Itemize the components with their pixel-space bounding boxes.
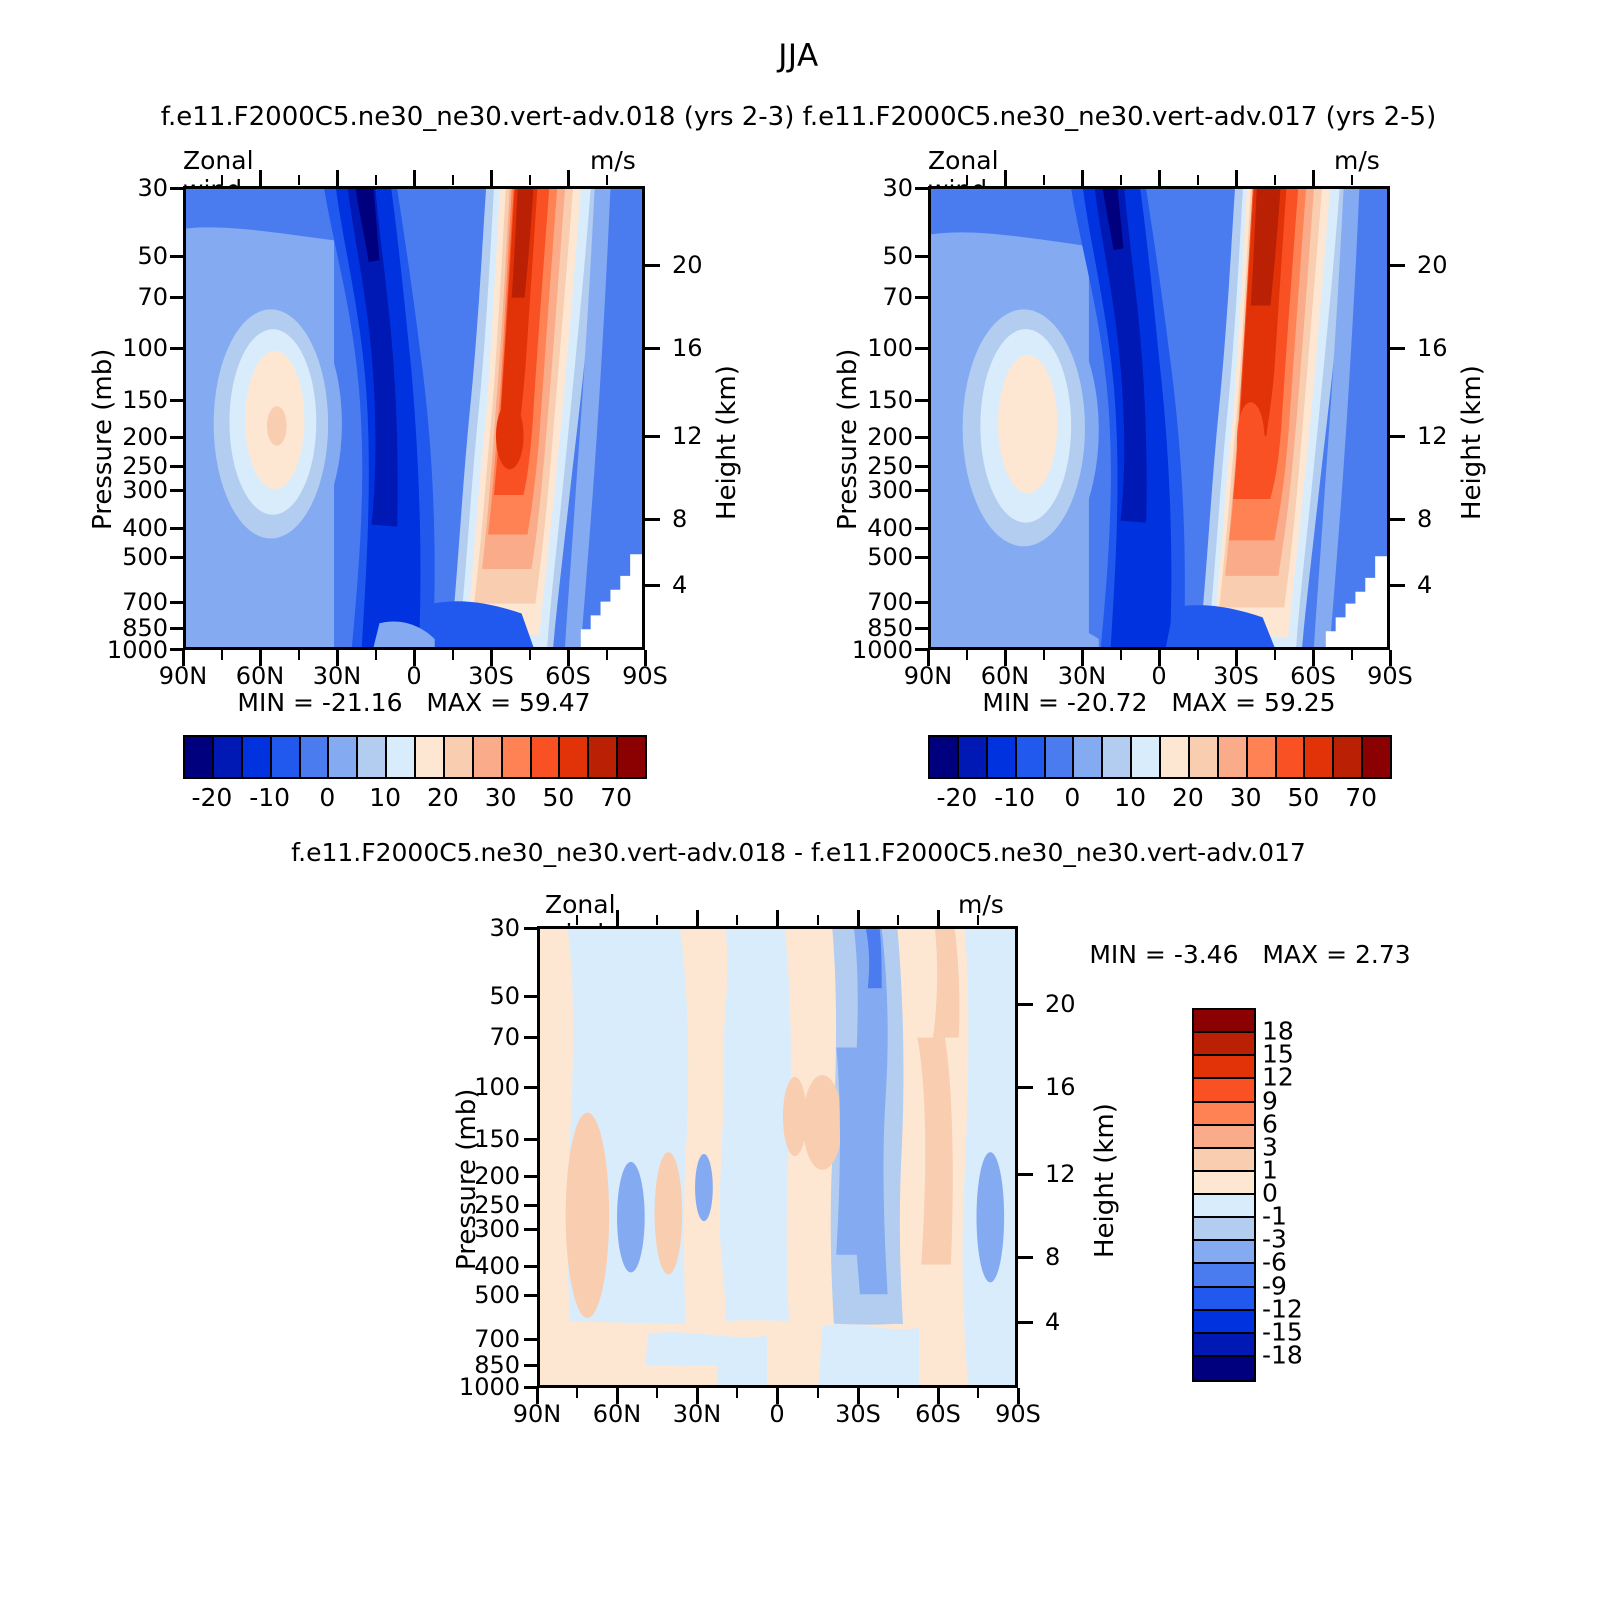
panel-diff-contour-field	[540, 929, 1015, 1385]
panel-diff-plot-area[interactable]	[537, 926, 1018, 1388]
panel-left-colorbar[interactable]	[183, 735, 647, 779]
panel-left-plot-area[interactable]	[183, 186, 645, 650]
y2tick	[1390, 518, 1405, 521]
xtick-minor-top	[656, 915, 658, 925]
ytick	[170, 436, 185, 439]
xtick-top	[857, 910, 860, 926]
colorbar-tick-label: 70	[1345, 783, 1377, 812]
y2tick	[645, 435, 660, 438]
xtick-minor-top	[897, 915, 899, 925]
xtick-minor-top	[977, 915, 979, 925]
ytick	[170, 627, 185, 630]
xtick-top	[776, 910, 779, 926]
xtick-top	[413, 170, 416, 186]
xtick-top	[1081, 170, 1084, 186]
panel-left-y2-axis-title: Height (km)	[712, 365, 742, 520]
ytick	[524, 1265, 539, 1268]
colorbar-cell-2	[1194, 1056, 1254, 1079]
colorbar-cell-15	[1194, 1357, 1254, 1380]
panel-diff-colorbar[interactable]	[1192, 1008, 1256, 1382]
xtick	[1017, 1388, 1020, 1404]
colorbar-cell-7	[1132, 737, 1161, 777]
xtick-minor	[576, 1388, 578, 1398]
colorbar-tick-label: -18	[1262, 1340, 1303, 1369]
ytick	[524, 1036, 539, 1039]
colorbar-cell-11	[1248, 737, 1277, 777]
xtick	[336, 650, 339, 666]
y2tick	[1018, 1086, 1033, 1089]
xtick-minor	[656, 1388, 658, 1398]
ytick	[915, 296, 930, 299]
y2tick	[1018, 1003, 1033, 1006]
panel-diff-colorbar-labels: 18151296310-1-3-6-9-12-15-18	[1262, 1008, 1352, 1378]
panel-right-colorbar[interactable]	[928, 735, 1392, 779]
panel-diff-minmax: MIN = -3.46 MAX = 2.73	[1040, 940, 1460, 969]
xtick-minor	[375, 650, 377, 660]
xtick	[1235, 650, 1238, 666]
xtick	[644, 650, 647, 666]
ytick	[915, 527, 930, 530]
xtick-top	[1004, 170, 1007, 186]
xtick-minor-top	[1351, 175, 1353, 185]
xtick	[1004, 650, 1007, 666]
colorbar-cell-10	[1219, 737, 1248, 777]
colorbar-cell-5	[1074, 737, 1103, 777]
colorbar-cell-7	[1194, 1172, 1254, 1195]
panel-diff-y2-axis-title: Height (km)	[1090, 1103, 1120, 1258]
y2tick	[1018, 1256, 1033, 1259]
colorbar-tick-label: 70	[600, 783, 632, 812]
xtick-minor-top	[221, 175, 223, 185]
colorbar-cell-0	[1194, 1010, 1254, 1033]
xtick	[259, 650, 262, 666]
colorbar-cell-10	[474, 737, 503, 777]
colorbar-cell-12	[532, 737, 561, 777]
xtick-minor	[529, 650, 531, 660]
colorbar-cell-13	[1194, 1311, 1254, 1334]
xtick-minor	[221, 650, 223, 660]
ytick	[524, 1294, 539, 1297]
colorbar-cell-8	[1161, 737, 1190, 777]
panel-diff-min: MIN = -3.46	[1089, 940, 1238, 969]
y2tick	[1390, 347, 1405, 350]
xtick	[927, 650, 930, 666]
xtick-minor-top	[298, 175, 300, 185]
colorbar-tick-label: 20	[427, 783, 459, 812]
panel-right-contour-field	[931, 189, 1387, 647]
colorbar-cell-5	[329, 737, 358, 777]
xtick-minor	[606, 650, 608, 660]
colorbar-cell-11	[503, 737, 532, 777]
colorbar-cell-4	[1046, 737, 1075, 777]
xtick-minor-top	[1120, 175, 1122, 185]
colorbar-cell-8	[1194, 1195, 1254, 1218]
xtick-top	[490, 170, 493, 186]
colorbar-tick-label: -10	[249, 783, 290, 812]
ytick	[524, 927, 539, 930]
colorbar-cell-14	[1334, 737, 1363, 777]
xtick-top	[696, 910, 699, 926]
xtick-minor-top	[452, 175, 454, 185]
xtick	[616, 1388, 619, 1404]
colorbar-cell-4	[301, 737, 330, 777]
xtick-minor	[977, 1388, 979, 1398]
colorbar-tick-label: 0	[1064, 783, 1080, 812]
y2tick	[1018, 1173, 1033, 1176]
xtick	[696, 1388, 699, 1404]
ytick	[915, 399, 930, 402]
colorbar-cell-14	[1194, 1334, 1254, 1357]
panel-left-minmax: MIN = -21.16 MAX = 59.47	[183, 688, 645, 717]
y2tick	[645, 347, 660, 350]
colorbar-cell-6	[1103, 737, 1132, 777]
panel-left-units-label: m/s	[590, 146, 636, 175]
colorbar-cell-12	[1277, 737, 1306, 777]
ytick	[170, 527, 185, 530]
xtick	[490, 650, 493, 666]
xtick-minor	[897, 1388, 899, 1398]
colorbar-cell-2	[988, 737, 1017, 777]
ytick	[915, 627, 930, 630]
xtick	[1389, 650, 1392, 666]
ytick	[524, 1228, 539, 1231]
xtick	[1312, 650, 1315, 666]
colorbar-tick-label: 10	[1114, 783, 1146, 812]
xtick	[776, 1388, 779, 1404]
colorbar-cell-15	[1363, 737, 1390, 777]
panel-diff-max: MAX = 2.73	[1262, 940, 1410, 969]
ytick	[915, 489, 930, 492]
xtick-minor	[1120, 650, 1122, 660]
xtick-minor-top	[1197, 175, 1199, 185]
xtick	[1081, 650, 1084, 666]
xtick	[1158, 650, 1161, 666]
ytick	[170, 347, 185, 350]
xtick-minor	[966, 650, 968, 660]
xtick-top	[937, 910, 940, 926]
ytick	[915, 556, 930, 559]
colorbar-tick-label: -20	[191, 783, 232, 812]
colorbar-cell-10	[1194, 1241, 1254, 1264]
y2tick	[645, 518, 660, 521]
ytick	[524, 1204, 539, 1207]
panel-left-min: MIN = -21.16	[237, 688, 402, 717]
panel-right-y2-axis-title: Height (km)	[1457, 365, 1487, 520]
xtick-top	[259, 170, 262, 186]
colorbar-cell-15	[618, 737, 645, 777]
colorbar-tick-label: 50	[1287, 783, 1319, 812]
xtick-minor-top	[576, 915, 578, 925]
colorbar-cell-4	[1194, 1103, 1254, 1126]
colorbar-cell-9	[1194, 1218, 1254, 1241]
ytick	[524, 1086, 539, 1089]
xtick-top	[567, 170, 570, 186]
colorbar-cell-13	[1305, 737, 1334, 777]
xtick-minor-top	[1043, 175, 1045, 185]
colorbar-cell-1	[1194, 1033, 1254, 1056]
ytick	[524, 1175, 539, 1178]
ytick	[915, 347, 930, 350]
ytick	[524, 1138, 539, 1141]
panel-right-colorbar-labels: -20-1001020305070	[928, 783, 1390, 817]
panel-right-units-label: m/s	[1334, 146, 1380, 175]
ytick	[524, 1364, 539, 1367]
panel-left-colorbar-labels: -20-1001020305070	[183, 783, 645, 817]
ytick	[915, 436, 930, 439]
panel-diff-units-label: m/s	[958, 890, 1004, 919]
colorbar-cell-0	[930, 737, 959, 777]
ytick	[170, 556, 185, 559]
y2tick	[1390, 584, 1405, 587]
xtick-minor-top	[529, 175, 531, 185]
colorbar-cell-13	[560, 737, 589, 777]
colorbar-cell-6	[358, 737, 387, 777]
xtick-minor-top	[966, 175, 968, 185]
colorbar-cell-12	[1194, 1288, 1254, 1311]
colorbar-cell-1	[214, 737, 243, 777]
y2tick	[645, 584, 660, 587]
y2tick	[1018, 1321, 1033, 1324]
xtick-minor-top	[736, 915, 738, 925]
colorbar-tick-label: 30	[485, 783, 517, 812]
season-title: JJA	[0, 38, 1597, 74]
colorbar-cell-1	[959, 737, 988, 777]
panel-left-max: MAX = 59.47	[426, 688, 590, 717]
xtick-top	[1312, 170, 1315, 186]
colorbar-tick-label: 0	[319, 783, 335, 812]
ytick	[170, 296, 185, 299]
xtick-minor-top	[1274, 175, 1276, 185]
colorbar-tick-label: -20	[936, 783, 977, 812]
colorbar-cell-5	[1194, 1126, 1254, 1149]
ytick	[915, 255, 930, 258]
y2tick	[645, 264, 660, 267]
panel-right-min: MIN = -20.72	[982, 688, 1147, 717]
colorbar-cell-7	[387, 737, 416, 777]
y2tick	[1390, 435, 1405, 438]
xtick-minor	[1043, 650, 1045, 660]
colorbar-cell-3	[272, 737, 301, 777]
panel-right-max: MAX = 59.25	[1171, 688, 1335, 717]
colorbar-cell-9	[1190, 737, 1219, 777]
xtick-minor-top	[375, 175, 377, 185]
colorbar-cell-6	[1194, 1149, 1254, 1172]
colorbar-tick-label: 10	[369, 783, 401, 812]
colorbar-tick-label: 50	[542, 783, 574, 812]
ytick	[915, 465, 930, 468]
ytick	[170, 465, 185, 468]
y2tick	[1390, 264, 1405, 267]
ytick	[524, 1338, 539, 1341]
xtick-minor	[736, 1388, 738, 1398]
panel-right-plot-area[interactable]	[928, 186, 1390, 650]
panel-right-minmax: MIN = -20.72 MAX = 59.25	[928, 688, 1390, 717]
xtick-minor	[1274, 650, 1276, 660]
colorbar-cell-8	[416, 737, 445, 777]
xtick	[413, 650, 416, 666]
xtick	[182, 650, 185, 666]
ytick	[170, 489, 185, 492]
colorbar-cell-11	[1194, 1264, 1254, 1287]
xtick-top	[616, 910, 619, 926]
ytick	[170, 187, 185, 190]
xtick-minor	[1197, 650, 1199, 660]
ytick	[915, 601, 930, 604]
xtick-top	[1235, 170, 1238, 186]
xtick-minor	[298, 650, 300, 660]
colorbar-cell-3	[1017, 737, 1046, 777]
xtick	[536, 1388, 539, 1404]
colorbar-cell-14	[589, 737, 618, 777]
ytick	[524, 995, 539, 998]
xtick-minor-top	[817, 915, 819, 925]
ytick	[170, 255, 185, 258]
difference-panel-title: f.e11.F2000C5.ne30_ne30.vert-adv.018 - f…	[0, 838, 1597, 867]
panel-left-contour-field	[186, 189, 642, 647]
colorbar-cell-2	[243, 737, 272, 777]
xtick	[567, 650, 570, 666]
colorbar-cell-9	[445, 737, 474, 777]
xtick-top	[336, 170, 339, 186]
xtick	[857, 1388, 860, 1404]
colorbar-tick-label: 20	[1172, 783, 1204, 812]
colorbar-cell-3	[1194, 1079, 1254, 1102]
xtick-top	[1158, 170, 1161, 186]
xtick-minor-top	[606, 175, 608, 185]
xtick-minor	[452, 650, 454, 660]
xtick-minor	[1351, 650, 1353, 660]
ytick	[915, 187, 930, 190]
ytick	[170, 601, 185, 604]
xtick-minor	[817, 1388, 819, 1398]
xtick	[937, 1388, 940, 1404]
colorbar-tick-label: -10	[994, 783, 1035, 812]
case-comparison-title: f.e11.F2000C5.ne30_ne30.vert-adv.018 (yr…	[0, 102, 1597, 132]
ytick	[170, 399, 185, 402]
colorbar-cell-0	[185, 737, 214, 777]
colorbar-tick-label: 30	[1230, 783, 1262, 812]
